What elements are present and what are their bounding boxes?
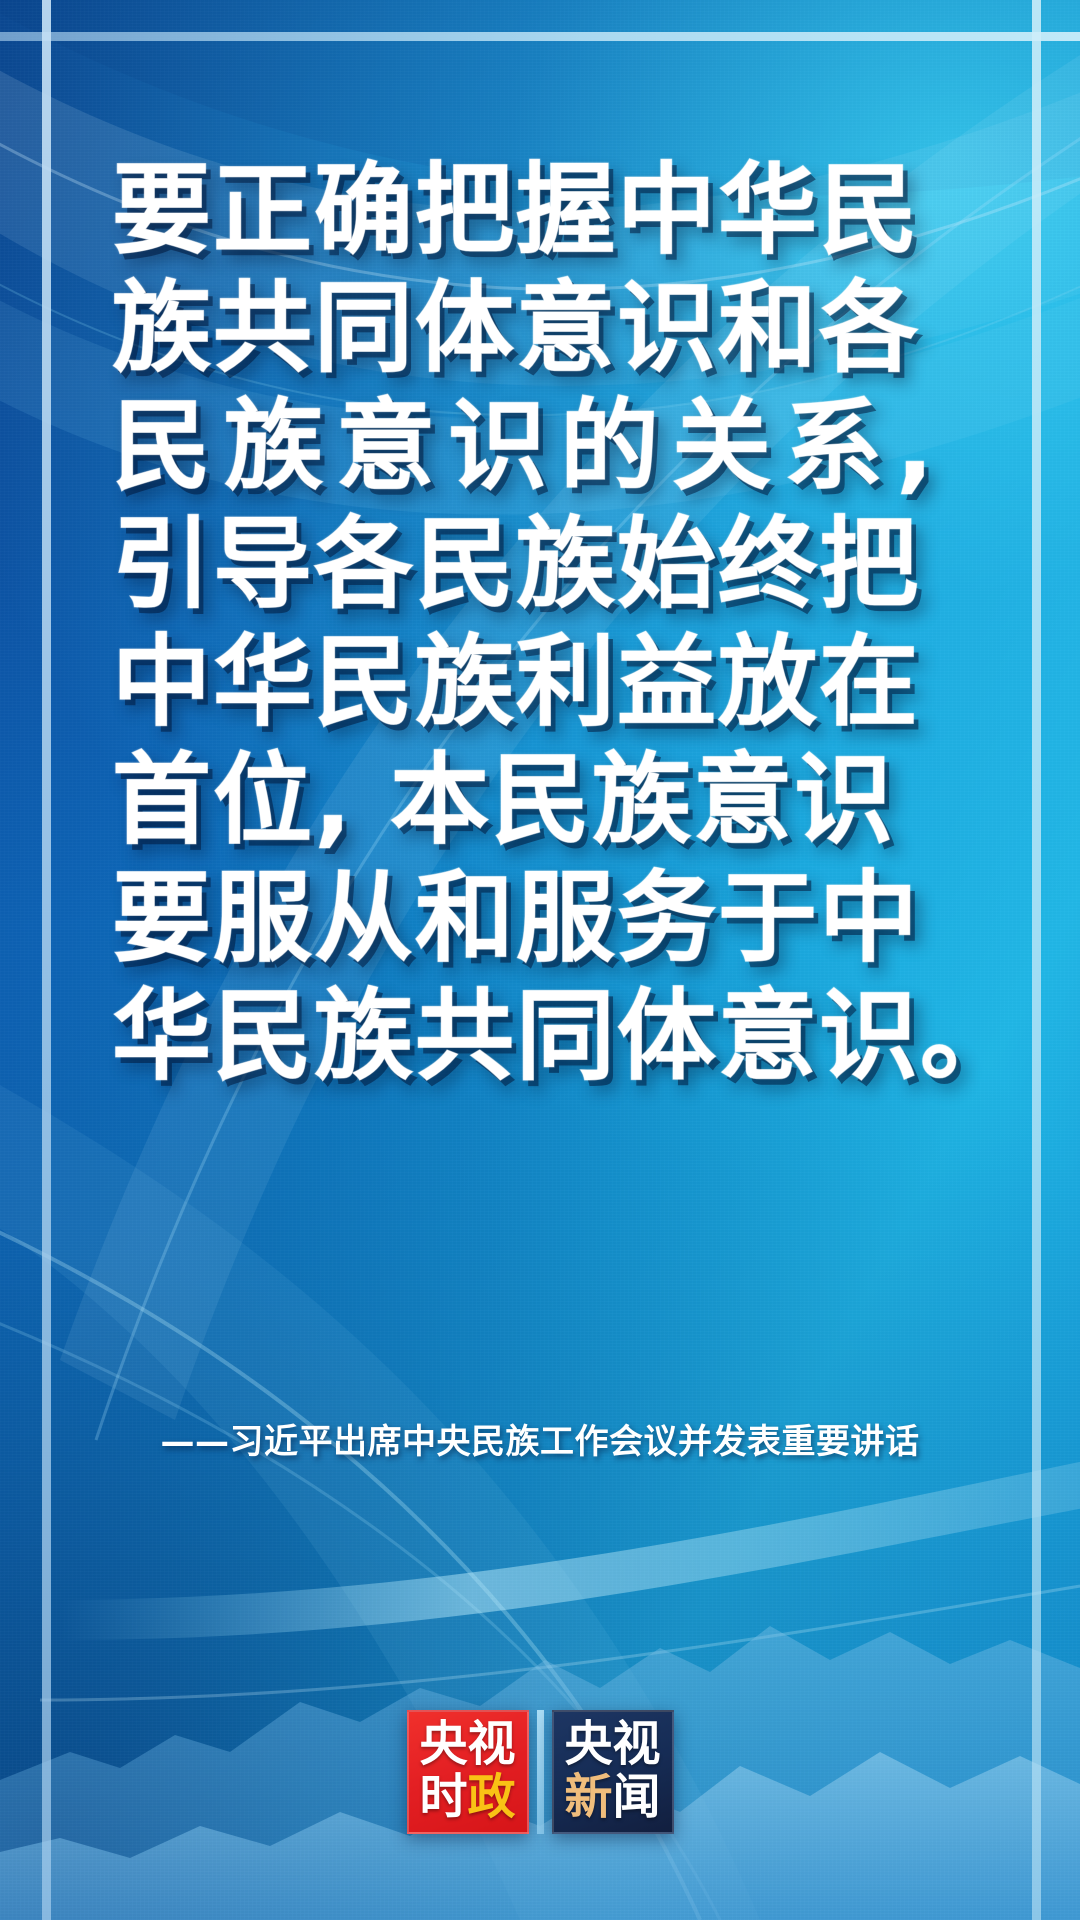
logo-cctv-shizheng[interactable]: 央 视 时 政 — [407, 1710, 529, 1834]
logo-char: 闻 — [613, 1771, 661, 1824]
logo-char: 央 — [419, 1718, 467, 1771]
headline-line: 华民族共同体意识。 — [112, 978, 984, 1096]
logo-divider — [537, 1710, 544, 1834]
headline-line: 要服从和服务于中 — [112, 860, 984, 978]
headline-line: 引导各民族始终把 — [112, 506, 984, 624]
logo-char: 视 — [613, 1718, 661, 1771]
frame-rule-top — [0, 32, 1080, 41]
headline-line: 要正确把握中华民 — [112, 152, 984, 270]
logo-char-accent: 政 — [468, 1771, 516, 1824]
logo-bottom-row: 时 政 — [419, 1771, 515, 1824]
logo-char-accent: 新 — [564, 1771, 612, 1824]
logo-lockup: 央 视 时 政 央 视 新 闻 — [0, 1710, 1080, 1834]
headline-block: 要正确把握中华民 族共同体意识和各 民族意识的关系, 引导各民族始终把 中华民族… — [0, 152, 1080, 1096]
logo-char: 时 — [419, 1771, 467, 1824]
headline-line: 族共同体意识和各 — [112, 270, 984, 388]
logo-cctv-xinwen[interactable]: 央 视 新 闻 — [552, 1710, 674, 1834]
headline-line: 民族意识的关系, — [112, 388, 984, 506]
logo-top-row: 央 视 — [419, 1718, 515, 1771]
headline-line: 首位, 本民族意识 — [112, 742, 984, 860]
attribution: ——习近平出席中央民族工作会议并发表重要讲话 — [0, 1420, 1080, 1464]
logo-top-row: 央 视 — [564, 1718, 660, 1771]
logo-char: 视 — [468, 1718, 516, 1771]
logo-char: 央 — [564, 1718, 612, 1771]
poster-canvas: 要正确把握中华民 族共同体意识和各 民族意识的关系, 引导各民族始终把 中华民族… — [0, 0, 1080, 1920]
attribution-text: ——习近平出席中央民族工作会议并发表重要讲话 — [161, 1420, 920, 1464]
logo-bottom-row: 新 闻 — [564, 1771, 660, 1824]
headline-line: 中华民族利益放在 — [112, 624, 984, 742]
